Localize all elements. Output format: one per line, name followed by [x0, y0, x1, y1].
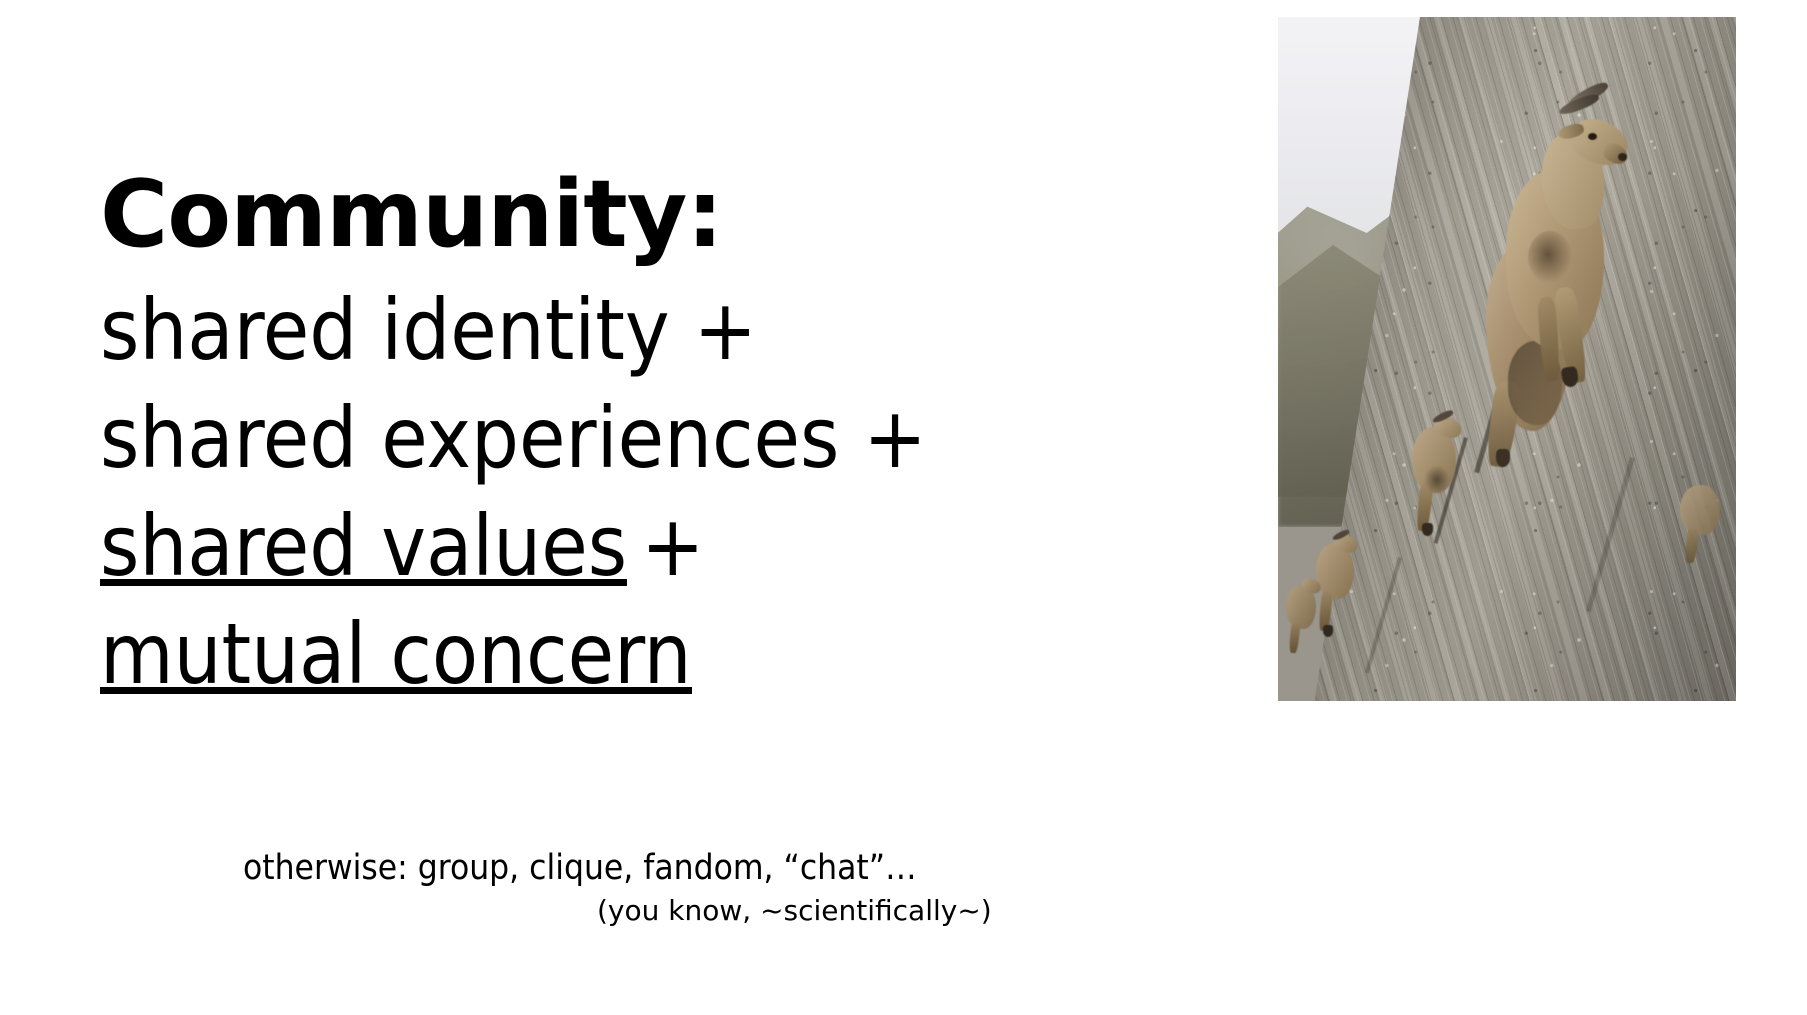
ibex-fourth — [1280, 577, 1324, 663]
ibex-second — [1404, 417, 1468, 547]
ibex-belly-shadow — [1424, 465, 1450, 495]
footnote-alternatives: otherwise: group, clique, fandom, “chat”… — [243, 851, 917, 886]
ibex-shoulder-patch — [1528, 231, 1572, 283]
bullet-line-text-underlined: mutual concern — [100, 612, 692, 696]
ibex-main — [1484, 91, 1634, 461]
ibex-eye — [1588, 133, 1597, 140]
ibex-rear-hoof — [1496, 449, 1510, 467]
bullet-line-text: shared experiences + — [100, 389, 927, 487]
bullet-line-text: shared identity + — [100, 281, 757, 379]
bullet-line-shared-experiences: shared experiences + — [100, 396, 927, 480]
ibex-hoof — [1422, 523, 1433, 536]
bullet-line-shared-identity: shared identity + — [100, 288, 757, 372]
ibex-torso — [1680, 485, 1720, 535]
page-title: Community: — [100, 168, 723, 261]
ibex-hoof — [1323, 625, 1333, 637]
bullet-line-shared-values: shared values + — [100, 504, 704, 588]
meme-image: they crave that mineral community — [1278, 17, 1736, 701]
bullet-line-text-underlined: shared values — [100, 504, 627, 588]
text-column: Community: shared identity + shared expe… — [0, 0, 1190, 1015]
slide-canvas: Community: shared identity + shared expe… — [0, 0, 1807, 1015]
ibex-leg — [1288, 623, 1300, 654]
ibex-fifth — [1676, 479, 1732, 575]
footnote-aside: (you know, ~scientifically~) — [597, 897, 992, 925]
bullet-line-plus: + — [627, 504, 704, 588]
ibex-nose — [1618, 153, 1627, 161]
ibex-leg — [1684, 529, 1698, 564]
bullet-line-mutual-concern: mutual concern — [100, 612, 692, 696]
